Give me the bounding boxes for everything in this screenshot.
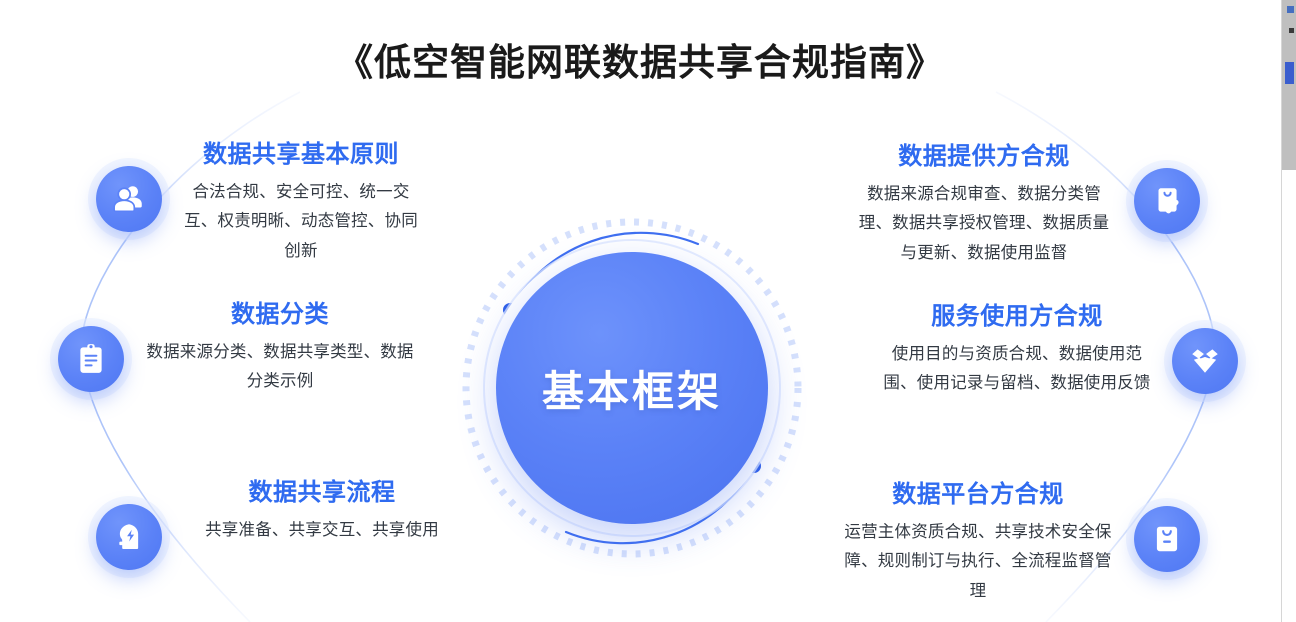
- node-text: 数据提供方合规 数据来源合规审查、数据分类管理、数据共享授权管理、数据质量与更新…: [834, 142, 1134, 268]
- node-data-classification[interactable]: 数据分类 数据来源分类、数据共享类型、数据分类示例: [58, 300, 478, 397]
- page-title: 《低空智能网联数据共享合规指南》: [0, 32, 1280, 86]
- head-lightning-icon: [96, 504, 162, 570]
- node-title: 数据分类: [142, 300, 418, 330]
- document-bag-icon: [1134, 506, 1200, 572]
- hub-circle: 基本框架: [496, 252, 768, 524]
- node-data-provider-compliance[interactable]: 数据提供方合规 数据来源合规审查、数据分类管理、数据共享授权管理、数据质量与更新…: [790, 142, 1200, 268]
- infographic-canvas: 《低空智能网联数据共享合规指南》: [0, 0, 1296, 622]
- node-text: 服务使用方合规 使用目的与资质合规、数据使用范围、使用记录与留档、数据使用反馈: [862, 302, 1172, 399]
- node-data-platform-compliance[interactable]: 数据平台方合规 运营主体资质合规、共享技术安全保障、规则制订与执行、全流程监督管…: [780, 480, 1200, 606]
- node-description: 合法合规、安全可控、统一交互、权责明晰、动态管控、协同创新: [180, 178, 422, 266]
- node-data-sharing-principles[interactable]: 数据共享基本原则 合法合规、安全可控、统一交互、权责明晰、动态管控、协同创新: [96, 140, 496, 266]
- node-description: 使用目的与资质合规、数据使用范围、使用记录与留档、数据使用反馈: [880, 340, 1154, 399]
- scrollbar-mark: [1285, 62, 1294, 84]
- node-text: 数据平台方合规 运营主体资质合规、共享技术安全保障、规则制订与执行、全流程监督管…: [822, 480, 1134, 606]
- node-description: 运营主体资质合规、共享技术安全保障、规则制订与执行、全流程监督管理: [840, 518, 1116, 606]
- node-title: 数据共享基本原则: [180, 140, 422, 170]
- node-title: 服务使用方合规: [880, 302, 1154, 332]
- node-description: 数据来源合规审查、数据分类管理、数据共享授权管理、数据质量与更新、数据使用监督: [852, 180, 1116, 268]
- node-description: 数据来源分类、数据共享类型、数据分类示例: [142, 338, 418, 397]
- scrollbar-mark: [1287, 6, 1294, 13]
- vertical-scrollbar[interactable]: [1281, 0, 1296, 622]
- node-text: 数据共享流程 共享准备、共享交互、共享使用: [162, 478, 482, 545]
- node-description: 共享准备、共享交互、共享使用: [180, 516, 464, 545]
- document-check-icon: [1134, 168, 1200, 234]
- clipboard-lines-icon: [58, 326, 124, 392]
- node-text: 数据共享基本原则 合法合规、安全可控、统一交互、权责明晰、动态管控、协同创新: [162, 140, 440, 266]
- node-text: 数据分类 数据来源分类、数据共享类型、数据分类示例: [124, 300, 436, 397]
- node-data-sharing-process[interactable]: 数据共享流程 共享准备、共享交互、共享使用: [96, 478, 516, 570]
- open-box-icon: [1172, 328, 1238, 394]
- scrollbar-marks: [1282, 0, 1295, 170]
- scrollbar-mark: [1289, 28, 1294, 33]
- node-service-user-compliance[interactable]: 服务使用方合规 使用目的与资质合规、数据使用范围、使用记录与留档、数据使用反馈: [818, 302, 1238, 399]
- node-title: 数据提供方合规: [852, 142, 1116, 172]
- node-title: 数据平台方合规: [840, 480, 1116, 510]
- center-hub: 基本框架: [496, 252, 768, 524]
- people-icon: [96, 166, 162, 232]
- hub-label: 基本框架: [542, 358, 722, 419]
- node-title: 数据共享流程: [180, 478, 464, 508]
